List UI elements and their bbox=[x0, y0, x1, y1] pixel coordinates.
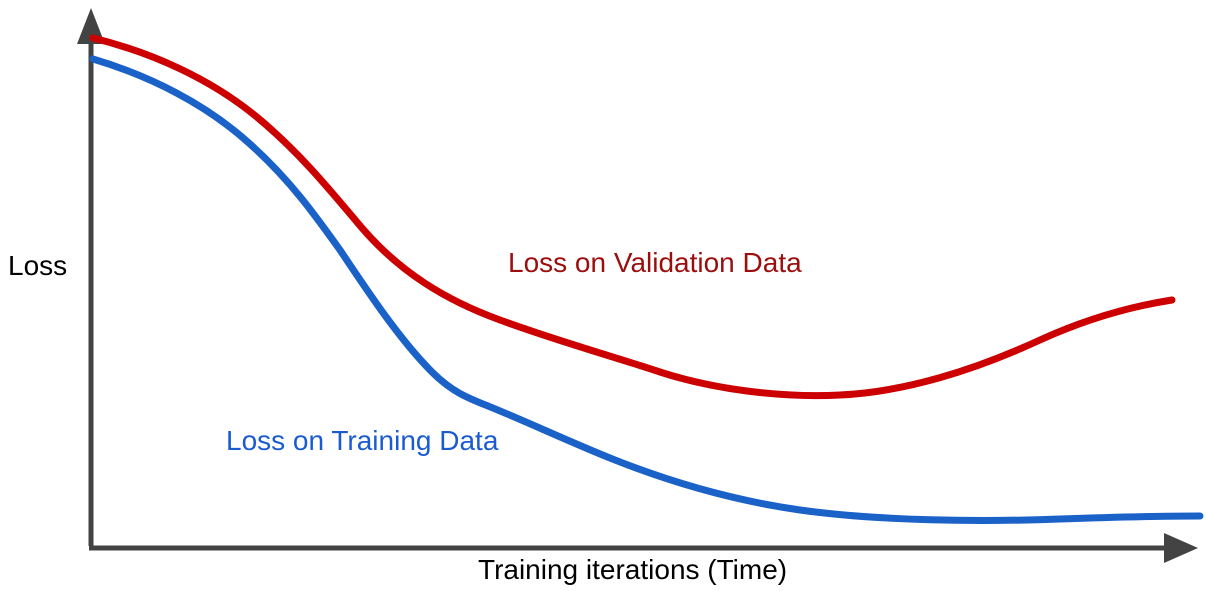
y-axis-label: Loss bbox=[8, 251, 67, 281]
x-axis-label: Training iterations (Time) bbox=[478, 555, 787, 585]
training-series-label: Loss on Training Data bbox=[226, 426, 498, 456]
chart-canvas bbox=[0, 0, 1206, 591]
loss-curve-figure: Loss Training iterations (Time) Loss on … bbox=[0, 0, 1206, 591]
validation-series-label: Loss on Validation Data bbox=[508, 248, 802, 278]
x-axis-arrow-icon bbox=[1164, 533, 1198, 563]
validation-loss-curve bbox=[93, 38, 1172, 396]
